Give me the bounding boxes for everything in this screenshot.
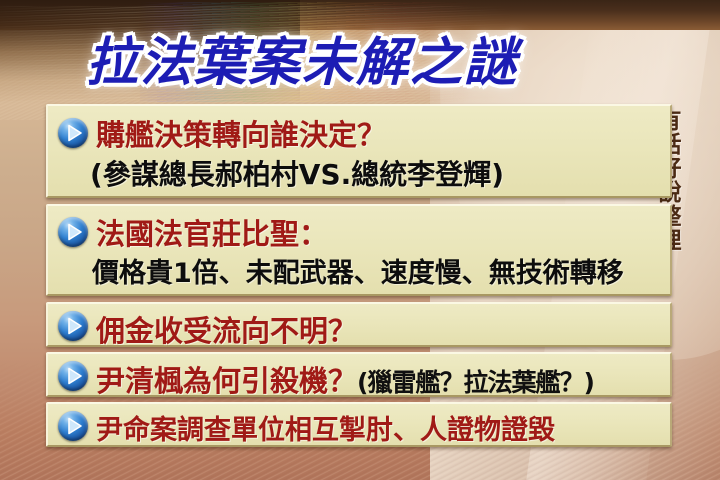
play-circle-icon bbox=[58, 217, 88, 247]
bullet-panel-1[interactable]: 購艦決策轉向誰決定？ (參謀總長郝柏村VS.總統李登輝) bbox=[46, 104, 672, 198]
play-circle-icon bbox=[58, 311, 88, 341]
broadcast-lower-third-screen: 拉法葉案未解之謎 有話好說整理 購艦決策轉向誰決定？ (參謀總長郝柏村VS.總統… bbox=[0, 0, 720, 480]
bullet-heading-5: 尹命案調查單位相互掣肘、人證物證毀 bbox=[96, 415, 555, 446]
play-circle-icon bbox=[58, 411, 88, 441]
page-title: 拉法葉案未解之謎 bbox=[86, 30, 666, 96]
bullet-subline-2: 價格貴1倍、未配武器、速度慢、無技術轉移 bbox=[92, 258, 624, 289]
bullet-heading-4: 尹清楓為何引殺機？ bbox=[96, 364, 357, 398]
bullet-heading-3: 佣金收受流向不明？ bbox=[96, 314, 357, 348]
bullet-panel-5[interactable]: 尹命案調查單位相互掣肘、人證物證毀 bbox=[46, 402, 672, 447]
bullet-subline-1: (參謀總長郝柏村VS.總統李登輝) bbox=[90, 158, 504, 191]
bullet-panel-3[interactable]: 佣金收受流向不明？ bbox=[46, 302, 672, 347]
bullet-inline-note-4: (獵雷艦？拉法葉艦？) bbox=[357, 368, 594, 397]
bullet-panel-2[interactable]: 法國法官莊比聖： 價格貴1倍、未配武器、速度慢、無技術轉移 bbox=[46, 204, 672, 296]
bullet-heading-2: 法國法官莊比聖： bbox=[96, 217, 328, 251]
bullet-heading-1: 購艦決策轉向誰決定？ bbox=[96, 118, 386, 152]
play-circle-icon bbox=[58, 118, 88, 148]
play-circle-icon bbox=[58, 361, 88, 391]
bullet-panel-4[interactable]: 尹清楓為何引殺機？(獵雷艦？拉法葉艦？) bbox=[46, 352, 672, 397]
